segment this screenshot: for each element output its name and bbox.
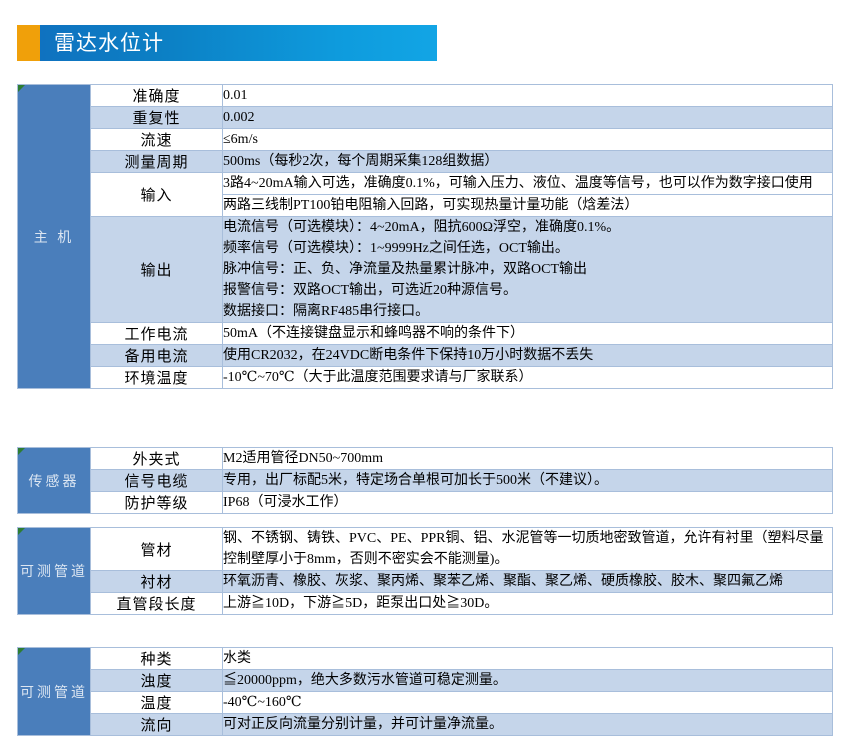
value-line: -40℃~160℃: [223, 692, 832, 713]
spec-table-pipe: 可测管道管材钢、不锈钢、铸铁、PVC、PE、PPR铜、铝、水泥管等一切质地密致管…: [17, 527, 833, 615]
title-banner: 雷达水位计: [40, 25, 437, 61]
row-label: 种类: [91, 648, 223, 670]
corner-marker-icon: [18, 528, 25, 535]
value-line: M2适用管径DN50~700mm: [223, 448, 832, 469]
corner-marker-icon: [18, 85, 25, 92]
table-row: 可测管道种类水类: [18, 648, 833, 670]
value-line: 脉冲信号：正、负、净流量及热量累计脉冲，双路OCT输出: [223, 259, 832, 280]
row-value: ≦20000ppm，绝大多数污水管道可稳定测量。: [223, 670, 833, 692]
group-label-text: 传感器: [29, 475, 80, 490]
value-line: 两路三线制PT100铂电阻输入回路，可实现热量计量功能（焓差法）: [223, 195, 832, 216]
table-row: 信号电缆专用，出厂标配5米，特定场合单根可加长于500米（不建议）。: [18, 470, 833, 492]
row-value: 可对正反向流量分别计量，并可计量净流量。: [223, 714, 833, 736]
table-row: 流速≤6m/s: [18, 129, 833, 151]
table-row: 备用电流使用CR2032，在24VDC断电条件下保持10万小时数据不丢失: [18, 345, 833, 367]
value-line: IP68（可浸水工作）: [223, 492, 832, 513]
row-label: 管材: [91, 528, 223, 571]
row-label: 衬材: [91, 571, 223, 593]
value-line: 环氧沥青、橡胶、灰浆、聚丙烯、聚苯乙烯、聚酯、聚乙烯、硬质橡胶、胶木、聚四氟乙烯: [223, 571, 832, 592]
row-label: 温度: [91, 692, 223, 714]
corner-marker-icon: [18, 648, 25, 655]
table-row: 测量周期500ms（每秒2次，每个周期采集128组数据）: [18, 151, 833, 173]
table-row: 传感器外夹式M2适用管径DN50~700mm: [18, 448, 833, 470]
value-line: 50mA（不连接键盘显示和蜂鸣器不响的条件下）: [223, 323, 832, 344]
row-label: 重复性: [91, 107, 223, 129]
row-label: 测量周期: [91, 151, 223, 173]
row-value: -10℃~70℃（大于此温度范围要求请与厂家联系）: [223, 367, 833, 389]
table-row: 温度-40℃~160℃: [18, 692, 833, 714]
value-line: 0.01: [223, 85, 832, 106]
row-value: 0.002: [223, 107, 833, 129]
row-value: 50mA（不连接键盘显示和蜂鸣器不响的条件下）: [223, 323, 833, 345]
row-label: 浊度: [91, 670, 223, 692]
page-title: 雷达水位计: [54, 33, 164, 54]
row-label: 流速: [91, 129, 223, 151]
table-row: 重复性0.002: [18, 107, 833, 129]
row-label: 流向: [91, 714, 223, 736]
group-label-text: 可测管道: [20, 565, 88, 580]
row-value: 上游≧10D，下游≧5D，距泵出口处≧30D。: [223, 593, 833, 615]
row-value: 钢、不锈钢、铸铁、PVC、PE、PPR铜、铝、水泥管等一切质地密致管道，允许有衬…: [223, 528, 833, 571]
table-row: 浊度≦20000ppm，绝大多数污水管道可稳定测量。: [18, 670, 833, 692]
group-label-text: 主 机: [34, 231, 75, 246]
value-line: 电流信号（可选模块）：4~20mA，阻抗600Ω浮空，准确度0.1%。: [223, 217, 832, 238]
row-value: 电流信号（可选模块）：4~20mA，阻抗600Ω浮空，准确度0.1%。频率信号（…: [223, 217, 833, 323]
value-line: 可对正反向流量分别计量，并可计量净流量。: [223, 714, 832, 735]
value-line: 0.002: [223, 107, 832, 128]
row-label: 环境温度: [91, 367, 223, 389]
row-value: -40℃~160℃: [223, 692, 833, 714]
row-value: 专用，出厂标配5米，特定场合单根可加长于500米（不建议）。: [223, 470, 833, 492]
group-label-medium: 可测管道: [18, 648, 91, 736]
row-value: M2适用管径DN50~700mm: [223, 448, 833, 470]
value-line: 水类: [223, 648, 832, 669]
table-row: 防护等级IP68（可浸水工作）: [18, 492, 833, 514]
row-value: 500ms（每秒2次，每个周期采集128组数据）: [223, 151, 833, 173]
table-row: 流向可对正反向流量分别计量，并可计量净流量。: [18, 714, 833, 736]
page-title-bar: 雷达水位计: [17, 25, 437, 61]
spec-table-sensor: 传感器外夹式M2适用管径DN50~700mm信号电缆专用，出厂标配5米，特定场合…: [17, 447, 833, 514]
value-line: 频率信号（可选模块）：1~9999Hz之间任选，OCT输出。: [223, 238, 832, 259]
row-value: 0.01: [223, 85, 833, 107]
row-label: 备用电流: [91, 345, 223, 367]
row-value: 两路三线制PT100铂电阻输入回路，可实现热量计量功能（焓差法）: [223, 195, 833, 217]
title-accent-block: [17, 25, 40, 61]
spec-table-host: 主 机准确度0.01重复性0.002流速≤6m/s测量周期500ms（每秒2次，…: [17, 84, 833, 389]
row-value: 环氧沥青、橡胶、灰浆、聚丙烯、聚苯乙烯、聚酯、聚乙烯、硬质橡胶、胶木、聚四氟乙烯: [223, 571, 833, 593]
row-label: 外夹式: [91, 448, 223, 470]
row-label: 输入: [91, 173, 223, 217]
value-line: 数据接口：隔离RF485串行接口。: [223, 301, 832, 322]
table-row: 输入3路4~20mA输入可选，准确度0.1%，可输入压力、液位、温度等信号，也可…: [18, 173, 833, 195]
value-line: ≦20000ppm，绝大多数污水管道可稳定测量。: [223, 670, 832, 691]
value-line: 500ms（每秒2次，每个周期采集128组数据）: [223, 151, 832, 172]
table-row: 输出电流信号（可选模块）：4~20mA，阻抗600Ω浮空，准确度0.1%。频率信…: [18, 217, 833, 323]
row-value: 3路4~20mA输入可选，准确度0.1%，可输入压力、液位、温度等信号，也可以作…: [223, 173, 833, 195]
table-row: 环境温度-10℃~70℃（大于此温度范围要求请与厂家联系）: [18, 367, 833, 389]
row-label: 直管段长度: [91, 593, 223, 615]
row-label: 输出: [91, 217, 223, 323]
row-label: 工作电流: [91, 323, 223, 345]
corner-marker-icon: [18, 448, 25, 455]
table-row: 工作电流50mA（不连接键盘显示和蜂鸣器不响的条件下）: [18, 323, 833, 345]
group-label-host: 主 机: [18, 85, 91, 389]
group-label-text: 可测管道: [20, 686, 88, 701]
group-label-sensor: 传感器: [18, 448, 91, 514]
row-label: 准确度: [91, 85, 223, 107]
row-value: 使用CR2032，在24VDC断电条件下保持10万小时数据不丢失: [223, 345, 833, 367]
value-line: 报警信号：双路OCT输出，可选近20种源信号。: [223, 280, 832, 301]
value-line: 钢、不锈钢、铸铁、PVC、PE、PPR铜、铝、水泥管等一切质地密致管道，允许有衬…: [223, 528, 832, 570]
value-line: ≤6m/s: [223, 129, 832, 150]
row-value: ≤6m/s: [223, 129, 833, 151]
value-line: 使用CR2032，在24VDC断电条件下保持10万小时数据不丢失: [223, 345, 832, 366]
row-value: IP68（可浸水工作）: [223, 492, 833, 514]
value-line: 上游≧10D，下游≧5D，距泵出口处≧30D。: [223, 593, 832, 614]
row-label: 信号电缆: [91, 470, 223, 492]
value-line: 专用，出厂标配5米，特定场合单根可加长于500米（不建议）。: [223, 470, 832, 491]
value-line: -10℃~70℃（大于此温度范围要求请与厂家联系）: [223, 367, 832, 388]
row-label: 防护等级: [91, 492, 223, 514]
table-row: 可测管道管材钢、不锈钢、铸铁、PVC、PE、PPR铜、铝、水泥管等一切质地密致管…: [18, 528, 833, 571]
row-value: 水类: [223, 648, 833, 670]
table-row: 直管段长度上游≧10D，下游≧5D，距泵出口处≧30D。: [18, 593, 833, 615]
group-label-pipe: 可测管道: [18, 528, 91, 615]
table-row: 衬材环氧沥青、橡胶、灰浆、聚丙烯、聚苯乙烯、聚酯、聚乙烯、硬质橡胶、胶木、聚四氟…: [18, 571, 833, 593]
value-line: 3路4~20mA输入可选，准确度0.1%，可输入压力、液位、温度等信号，也可以作…: [223, 173, 832, 194]
spec-table-medium: 可测管道种类水类浊度≦20000ppm，绝大多数污水管道可稳定测量。温度-40℃…: [17, 647, 833, 736]
table-row: 主 机准确度0.01: [18, 85, 833, 107]
